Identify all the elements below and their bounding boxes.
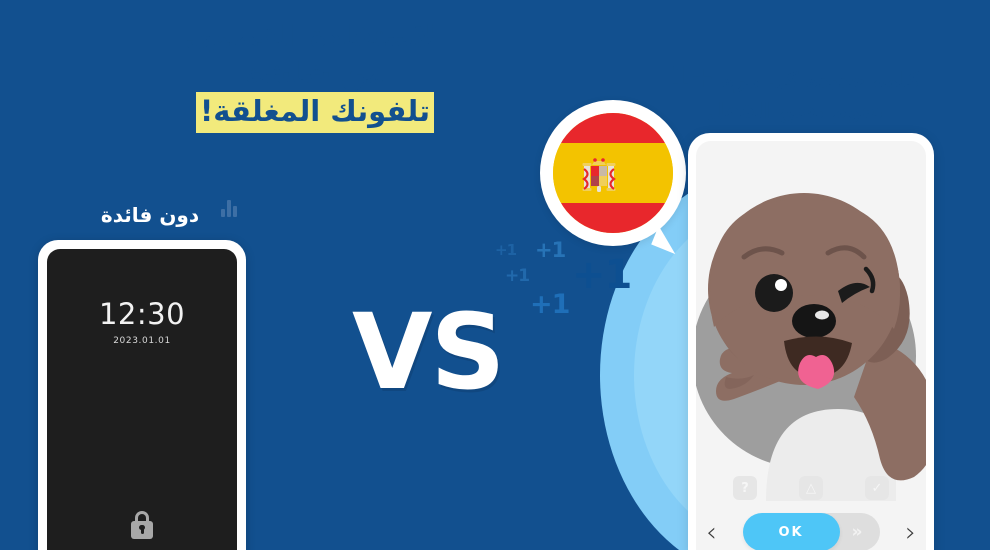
ok-skip-control: » OK xyxy=(743,513,880,550)
headline-right-badge: +1 xyxy=(670,60,715,94)
label-no-benefit: دون فائدة xyxy=(55,203,245,227)
flag-stripe-top xyxy=(553,113,673,143)
plus-one-badge: +1 xyxy=(495,243,516,258)
phone-app-mockup: ? △ ✓ ‹ » OK › xyxy=(688,133,934,550)
flag-stripe-bottom xyxy=(553,203,673,233)
check-icon[interactable]: ✓ xyxy=(865,476,889,500)
speech-bubble xyxy=(540,100,686,246)
headline-right-line-2: تقوم بفتح القفل xyxy=(650,97,940,125)
chevron-right-icon[interactable]: › xyxy=(905,519,916,546)
action-icon-row: ? △ ✓ xyxy=(696,476,926,500)
report-icon[interactable]: △ xyxy=(799,476,823,500)
headline-right-line-1: كلمة جديدة كل مرة xyxy=(722,68,921,92)
plus-one-badge: +1 xyxy=(505,268,529,285)
hint-icon[interactable]: ? xyxy=(733,476,757,500)
headline-line-2: من شاشة xyxy=(150,55,480,92)
navigation-row: ‹ » OK › xyxy=(696,513,926,550)
app-screen: ? △ ✓ ‹ » OK › xyxy=(696,141,926,550)
lockscreen: 12:30 2023.01.01 xyxy=(47,249,237,550)
chevron-left-icon[interactable]: ‹ xyxy=(706,519,717,546)
lock-icon xyxy=(131,511,153,539)
headline-left: الاستفادة القصوى من شاشة تلفونك المغلقة! xyxy=(150,18,480,133)
plus-one-badge: +1 xyxy=(535,240,565,261)
clock-date: 2023.01.01 xyxy=(47,336,237,346)
plus-one-badge: +1 xyxy=(572,255,631,295)
lock-keyhole xyxy=(141,526,144,534)
plus-one-badge: +1 xyxy=(530,291,569,318)
clock-time: 12:30 xyxy=(47,297,237,331)
headline-line-3-highlighted: تلفونك المغلقة! xyxy=(196,92,434,133)
lockscreen-clock: 12:30 2023.01.01 xyxy=(47,297,237,346)
vs-label: VS xyxy=(352,300,503,404)
label-no-benefit-text: دون فائدة xyxy=(101,203,199,227)
headline-line-1: الاستفادة القصوى xyxy=(150,18,480,55)
signal-bars-icon xyxy=(221,199,237,217)
headline-right: كلمة جديدة كل مرة +1 تقوم بفتح القفل xyxy=(650,58,940,125)
dog-mascot-icon xyxy=(696,141,926,501)
spain-flag-icon xyxy=(553,113,673,233)
flag-coat-of-arms xyxy=(579,153,619,197)
promo-graphic: الاستفادة القصوى من شاشة تلفونك المغلقة!… xyxy=(0,0,990,550)
phone-locked-mockup: 12:30 2023.01.01 xyxy=(38,240,246,550)
ok-button[interactable]: OK xyxy=(743,513,840,550)
